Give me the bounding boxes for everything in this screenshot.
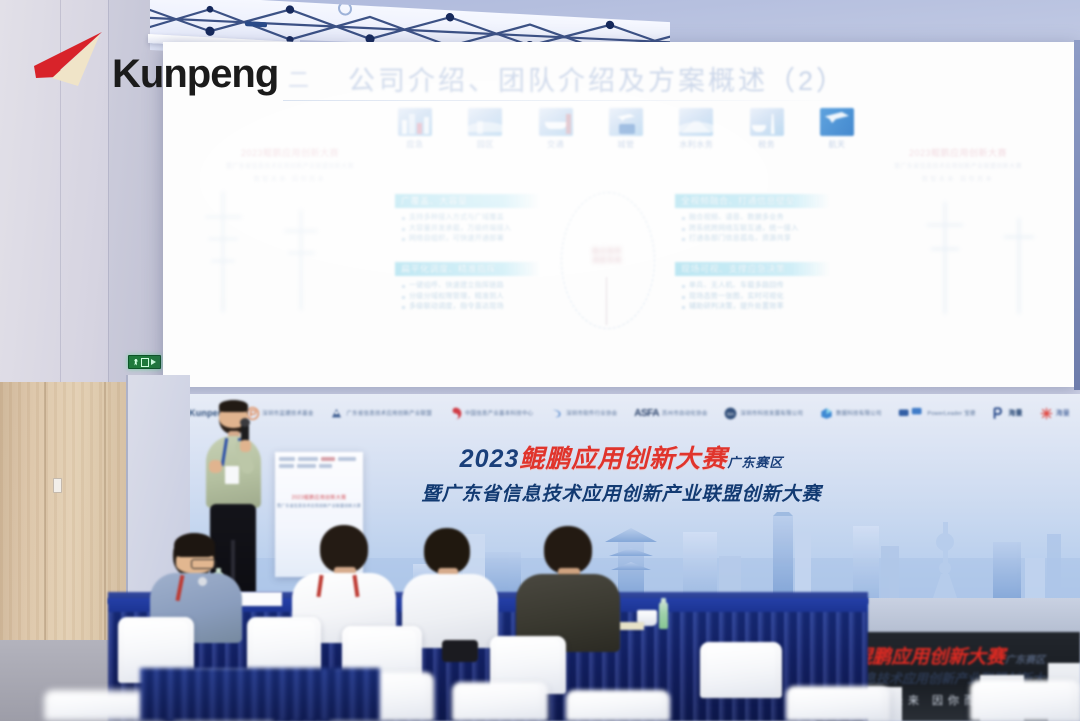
- snack-plate: [618, 622, 644, 630]
- industry-icon-park: 园区: [461, 108, 509, 150]
- panel-heading: 现场可视、支撑应急决策: [675, 262, 830, 276]
- title-divider: [283, 100, 843, 101]
- panel-bottom-right: 现场可视、支撑应急决策 单兵、无人机、车载多路回传 现场态势一张图，实时可视化 …: [675, 262, 830, 313]
- panel-heading: 扁平化调度、精准指挥: [395, 262, 540, 276]
- slide-section-number: 二: [288, 64, 311, 94]
- industry-icon-transport: 交通: [532, 108, 580, 150]
- slide-watermark-left: 2023鲲鹏应用创新大赛 暨广东省信息技术应用创新产业联盟创新大赛 数智未来 因…: [185, 146, 395, 183]
- bullet: 网络自组织，可快速开通部署: [402, 234, 540, 245]
- poster-logo: [319, 464, 332, 468]
- sponsor-logo: PowerLeader 宝德: [898, 407, 975, 420]
- bullet: 多级联动调度，指令直达现场: [402, 302, 540, 313]
- poster-logo: [321, 457, 335, 461]
- urban-management-icon: [609, 108, 643, 136]
- bullet: 大容量并发承载，万级终端接入: [402, 224, 540, 235]
- poster-logo: [298, 457, 318, 461]
- judge-4-head: [544, 526, 592, 574]
- bullet: 支持多种接入方式与广域覆盖: [402, 213, 540, 224]
- panel-bullets: 一键组呼、快速建立指挥链路 分级分域权限管理，精准到人 多级联动调度，指令直达现…: [395, 281, 540, 313]
- poster-title: 2023鲲鹏应用创新大赛: [275, 494, 363, 501]
- sponsor-logo: ASFA 苏州市自动化协会: [634, 408, 707, 419]
- sponsor-logo-bar: Kunpeng 深圳市盆建技术基金 广东省信息技术应用创新产业联盟: [163, 398, 1080, 428]
- arrow-right-icon: [151, 359, 156, 365]
- presenter-hand: [209, 460, 222, 473]
- svg-text:SIA: SIA: [727, 411, 735, 416]
- pylon-art: [281, 210, 321, 310]
- presenter-hand: [240, 440, 251, 452]
- industry-icon-urban: 城管: [602, 108, 650, 150]
- industry-icon-water: 水利水务: [672, 108, 720, 150]
- emergency-icon: [398, 108, 432, 136]
- judge-2-head: [320, 525, 368, 573]
- tax-icon: [750, 108, 784, 136]
- bullet: 辅助研判决策，提升处置效率: [682, 302, 830, 313]
- pylon-art: [1001, 218, 1037, 314]
- industry-icon-tax: 税务: [743, 108, 791, 150]
- backdrop-main-title: 鲲鹏应用创新大赛: [519, 445, 727, 473]
- panel-heading: 广覆盖、大容量: [395, 194, 540, 208]
- data-tech-mark: [898, 407, 924, 420]
- panel-bullets: 单兵、无人机、车载多路回传 现场态势一张图，实时可视化 辅助研判决策，提升处置效…: [675, 281, 830, 313]
- panel-top-right: 全视频融合、打通信息壁垒 融合视频、语音、数据多业务 跨系统跨网络互联互通，统一…: [675, 194, 830, 245]
- poster-logo: [279, 464, 294, 468]
- hub-label: 融合指挥 调度系统: [576, 247, 638, 265]
- chair: [700, 642, 782, 698]
- running-man-icon: [134, 359, 139, 366]
- slide-title: 公司介绍、团队介绍及方案概述（2）: [348, 59, 846, 98]
- aerospace-icon: [820, 108, 854, 136]
- backdrop-year: 2023: [460, 445, 520, 473]
- panel-heading: 全视频融合、打通信息壁垒: [675, 194, 830, 208]
- poster-logo: [297, 464, 316, 468]
- led-region: 广东赛区: [1005, 655, 1045, 666]
- bullet: 一键组呼、快速建立指挥链路: [402, 281, 540, 292]
- hub-line2: 调度系统: [576, 256, 638, 265]
- industry-icon-strip: 应急 园区 交通 城管: [391, 108, 861, 150]
- wall-switch: [53, 478, 62, 493]
- panel-bullets: 融合视频、语音、数据多业务 跨系统跨网络互联互通，统一接入 打通各部门信息孤岛，…: [675, 213, 830, 245]
- pylon-art: [201, 192, 245, 312]
- chair: [970, 680, 1080, 721]
- sponsor-logo: 数据科技有限公司: [820, 407, 882, 420]
- poster-logo: [338, 457, 356, 461]
- hub-line1: 融合指挥: [576, 247, 638, 256]
- judge-1-collar-button: [198, 577, 207, 586]
- bullet: 打通各部门信息孤岛，资源共享: [682, 234, 830, 245]
- judge-1-glasses: [191, 559, 216, 569]
- software-assoc-mark: [550, 407, 563, 420]
- tech-dev-mark: [820, 407, 833, 420]
- panel-bottom-left: 扁平化调度、精准指挥 一键组呼、快速建立指挥链路 分级分域权限管理，精准到人 多…: [395, 262, 540, 313]
- bullet: 现场态势一张图，实时可视化: [682, 292, 830, 303]
- panel-bullets: 支持多种接入方式与广域覆盖 大容量并发承载，万级终端接入 网络自组织，可快速开通…: [395, 213, 540, 245]
- sponsor-logo: 广东省信息技术应用创新产业联盟: [330, 407, 432, 420]
- conference-photo-scene: 二 公司介绍、团队介绍及方案概述（2） 应急 园区 交通: [0, 0, 1080, 721]
- park-icon: [468, 108, 502, 136]
- led-main-title: 鲲鹏应用创新大赛: [853, 647, 1005, 668]
- automation-mark: SIA: [724, 407, 737, 420]
- bullet: 分级分域权限管理，精准到人: [402, 292, 540, 303]
- sponsor-logo: SIA 深圳市科技发展有限公司: [724, 407, 803, 420]
- exit-sign: [128, 355, 161, 369]
- hub-stem: [606, 277, 607, 325]
- slide-watermark-right: 2023鲲鹏应用创新大赛 暨广东省信息技术应用创新产业联盟创新大赛 数智未来 因…: [853, 146, 1063, 183]
- bullet: 跨系统跨网络互联互通，统一接入: [682, 224, 830, 235]
- microphone-head: [240, 418, 250, 427]
- panel-top-left: 广覆盖、大容量 支持多种接入方式与广域覆盖 大容量并发承载，万级终端接入 网络自…: [395, 194, 540, 245]
- judge-3-bag: [442, 640, 478, 662]
- bullet: 融合视频、语音、数据多业务: [682, 213, 830, 224]
- presenter-hair: [219, 400, 248, 412]
- bullet: 单兵、无人机、车载多路回传: [682, 281, 830, 292]
- projection-screen: 二 公司介绍、团队介绍及方案概述（2） 应急 园区 交通: [163, 42, 1080, 387]
- hailiang-mark: [1040, 407, 1053, 420]
- transport-icon: [539, 108, 573, 136]
- pylon-art: [923, 202, 967, 314]
- sponsor-logo: 深圳市软件行业协会: [550, 407, 617, 420]
- judge-1-hair: [174, 533, 215, 557]
- sponsor-logo: 中国信息产业基本科技中心: [449, 407, 533, 420]
- side-table-skirt: [140, 668, 380, 721]
- poster-logo: [279, 457, 295, 461]
- industry-icon-emergency: 应急: [391, 108, 439, 150]
- presenter-badge: [225, 466, 239, 484]
- alliance-mark: [330, 407, 343, 420]
- chair: [566, 690, 670, 721]
- sponsor-logo: 海量: [992, 407, 1022, 420]
- water-bottle: [659, 602, 668, 629]
- chair: [786, 686, 890, 721]
- water-affairs-icon: [679, 108, 713, 136]
- door-icon: [141, 358, 149, 367]
- powerleader-mark: [992, 407, 1005, 420]
- backdrop-region: 广东赛区: [727, 455, 783, 470]
- kunpeng-wordmark: Kunpeng: [112, 52, 278, 97]
- chair: [452, 682, 548, 721]
- poster-subtitle: 暨广东省信息技术应用创新产业联盟创新大赛: [275, 503, 363, 509]
- cic-mark: [449, 407, 462, 420]
- poster-logo-row: [275, 452, 363, 468]
- screen-frame-right: [1074, 40, 1080, 390]
- industry-icon-aerospace: 航天: [813, 108, 861, 150]
- sponsor-logo: 海量: [1040, 407, 1070, 420]
